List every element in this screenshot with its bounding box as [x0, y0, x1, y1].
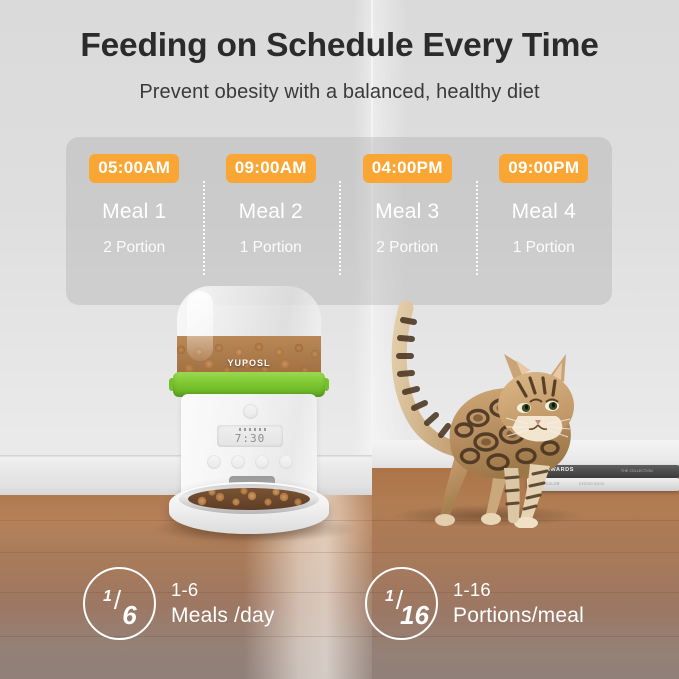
meal-label: Meal 2	[239, 200, 303, 224]
kibble-in-bowl	[188, 488, 310, 510]
schedule-column: 09:00AM Meal 2 1 Portion	[203, 137, 340, 305]
control-button-set[interactable]	[207, 455, 221, 469]
meal-label: Meal 1	[102, 200, 166, 224]
feature-caption: Meals /day	[171, 604, 275, 628]
food-bowl	[169, 482, 329, 534]
hopper-highlight	[187, 291, 213, 361]
fraction-circle-icon: 1 / 6	[83, 567, 156, 640]
fraction-one-sixth: 1 / 6	[85, 569, 154, 638]
fraction-numerator: 1	[385, 588, 394, 606]
lcd-display: 7:30	[217, 425, 283, 447]
time-badge: 09:00PM	[499, 154, 588, 183]
feature-range: 1-6	[171, 579, 275, 601]
portion-label: 2 Portion	[103, 239, 165, 257]
portion-label: 1 Portion	[513, 239, 575, 257]
schedule-column: 04:00PM Meal 3 2 Portion	[339, 137, 476, 305]
fraction-numerator: 1	[103, 588, 112, 606]
control-button-plus[interactable]	[255, 455, 269, 469]
time-badge: 09:00AM	[226, 154, 316, 183]
schedule-column: 05:00AM Meal 1 2 Portion	[66, 137, 203, 305]
bengal-cat	[378, 296, 590, 528]
meal-label: Meal 4	[512, 200, 576, 224]
fraction-circle-icon: 1 / 16	[365, 567, 438, 640]
fraction-denominator: 16	[400, 600, 429, 631]
automatic-pet-feeder: YUPOSL 7:30	[163, 286, 335, 534]
time-badge: 04:00PM	[363, 154, 452, 183]
page-subtitle: Prevent obesity with a balanced, healthy…	[0, 81, 679, 104]
portion-label: 2 Portion	[376, 239, 438, 257]
fraction-slash: /	[114, 585, 121, 616]
fraction-one-sixteenth: 1 / 16	[367, 569, 436, 638]
book-top-subtitle: THE COLLECTION	[621, 469, 653, 473]
time-badge: 05:00AM	[89, 154, 179, 183]
product-marketing-image: Feeding on Schedule Every Time Prevent o…	[0, 0, 679, 679]
page-title: Feeding on Schedule Every Time	[0, 27, 679, 65]
feeding-schedule-card: 05:00AM Meal 1 2 Portion 09:00AM Meal 2 …	[66, 137, 612, 305]
portion-label: 1 Portion	[240, 239, 302, 257]
lcd-indicator-dots	[239, 428, 267, 431]
schedule-column: 09:00PM Meal 4 1 Portion	[476, 137, 613, 305]
feature-text-block: 1-16 Portions/meal	[453, 579, 584, 628]
feature-range: 1-16	[453, 579, 584, 601]
control-button-minus[interactable]	[279, 455, 293, 469]
control-button-clock[interactable]	[231, 455, 245, 469]
meal-label: Meal 3	[375, 200, 439, 224]
feature-meals-per-day: 1 / 6 1-6 Meals /day	[83, 567, 275, 640]
feature-text-block: 1-6 Meals /day	[171, 579, 275, 628]
lcd-time-value: 7:30	[235, 432, 266, 445]
brand-logo-text: YUPOSL	[163, 358, 335, 368]
control-button-row	[207, 455, 293, 469]
feature-caption: Portions/meal	[453, 604, 584, 628]
power-button[interactable]	[243, 404, 258, 419]
feature-portions-per-meal: 1 / 16 1-16 Portions/meal	[365, 567, 584, 640]
fraction-denominator: 6	[122, 600, 136, 631]
